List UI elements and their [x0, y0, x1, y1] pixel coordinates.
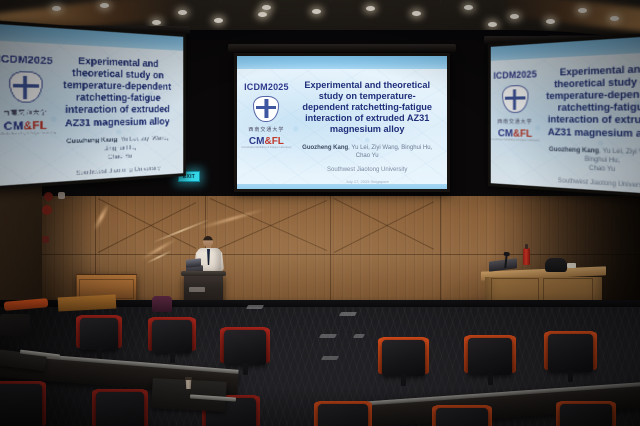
lecture-hall-photo: EXIT ICDM2025 西南交通大学 CM&FL Constitutive … [0, 0, 640, 426]
seat-pedestal [243, 363, 248, 375]
downlight [610, 16, 619, 21]
auditorium-seat[interactable] [382, 340, 425, 376]
coauthor-names-2: Chao Yu [356, 153, 379, 159]
auditorium-seat[interactable] [560, 404, 612, 426]
floor-marker [321, 356, 339, 360]
slide-title: Experimental and theoretical study on te… [296, 80, 439, 136]
seat-backrest [224, 330, 266, 365]
seat-pedestal [488, 373, 493, 385]
conference-tag: ICDM2025 [244, 82, 289, 92]
seat-backrest [152, 320, 192, 353]
screen-valance-center [228, 44, 456, 52]
university-crest-icon [253, 96, 279, 122]
downlight [366, 6, 375, 11]
seat-backrest [318, 404, 368, 426]
desk-door [543, 278, 593, 302]
university-name-chinese: 西南交通大学 [498, 118, 533, 125]
downlight [488, 22, 497, 27]
slide-logo-column: ICDM2025 西南交通大学 CM&FL Constitutive Model… [491, 58, 540, 193]
lab-logo-subtitle: Constitutive Modelling & Fatigue Laborat… [241, 147, 291, 150]
slide-logo-column: ICDM2025 西南交通大学 CM&FL Constitutive Model… [237, 69, 296, 184]
slide-authors: Guozheng Kang, Yu Lei, Ziyi Wang, Binghu… [540, 145, 640, 177]
slide-header-band [237, 56, 447, 69]
seat-pedestal [568, 370, 573, 382]
desk-paper [567, 263, 576, 268]
slide-body: ICDM2025 西南交通大学 CM&FL Constitutive Model… [237, 69, 447, 184]
wall-speaker-puck [42, 205, 52, 215]
side-chair[interactable] [152, 296, 172, 312]
screen-bezel: ICDM2025 西南交通大学 CM&FL Constitutive Model… [234, 53, 450, 192]
seat-backrest [436, 408, 488, 426]
auditorium-seat[interactable] [468, 338, 512, 375]
presenter-name: Guozheng Kang [66, 137, 117, 145]
slide-body: ICDM2025 西南交通大学 CM&FL Constitutive Model… [491, 51, 640, 196]
slide-title: Experimental and theoretical study on te… [56, 54, 177, 130]
downlight [178, 10, 187, 15]
downlight [546, 19, 555, 24]
slide-affiliation: Southwest Jiaotong University [558, 178, 640, 190]
presenter-name: Guozheng Kang [549, 147, 599, 155]
lab-logo: CM&FL Constitutive Modelling & Fatigue L… [491, 130, 540, 144]
slide-text-column: Experimental and theoretical study on te… [56, 44, 183, 186]
conference-tag: ICDM2025 [0, 53, 53, 67]
podium-logo [189, 287, 205, 292]
downlight [578, 8, 587, 13]
lab-logo: CM&FL Constitutive Modelling & Fatigue L… [0, 121, 56, 137]
fire-extinguisher-icon [523, 248, 530, 265]
lab-logo-subtitle: Constitutive Modelling & Fatigue Laborat… [491, 140, 540, 144]
slide-authors: Guozheng Kang, Yu Lei, Ziyi Wang, Binghu… [56, 134, 177, 165]
slide-text-column: Experimental and theoretical study on te… [540, 51, 640, 196]
slide-title: Experimental and theoretical study on te… [540, 62, 640, 141]
auditorium-seat[interactable] [80, 318, 118, 350]
center-projection-screen: ICDM2025 西南交通大学 CM&FL Constitutive Model… [234, 53, 450, 192]
coauthor-names-2: Chao Yu [108, 153, 132, 161]
slide-footer-band [237, 184, 447, 189]
presenter-name: Guozheng Kang [302, 145, 348, 151]
auditorium-seat[interactable] [548, 334, 593, 372]
seat-accent-orange [0, 314, 30, 336]
downlight [464, 5, 473, 10]
left-projection-screen: ICDM2025 西南交通大学 CM&FL Constitutive Model… [0, 20, 186, 190]
right-projection-screen: ICDM2025 西南交通大学 CM&FL Constitutive Model… [488, 31, 640, 200]
wall-speaker-puck [58, 192, 65, 199]
floor-marker [319, 334, 337, 338]
auditorium-seat[interactable] [436, 408, 488, 426]
downlight [412, 11, 421, 16]
conference-tag: ICDM2025 [493, 69, 537, 81]
wall-speaker-puck [44, 192, 53, 201]
presentation-slide: ICDM2025 西南交通大学 CM&FL Constitutive Model… [0, 24, 183, 186]
slide-body: ICDM2025 西南交通大学 CM&FL Constitutive Model… [0, 40, 183, 186]
downlight [510, 14, 519, 19]
downlight [52, 6, 61, 11]
seat-backrest [80, 318, 118, 350]
downlight [152, 20, 161, 25]
university-crest-icon [9, 71, 43, 103]
university-name-chinese: 西南交通大学 [248, 126, 284, 133]
presentation-slide: ICDM2025 西南交通大学 CM&FL Constitutive Model… [491, 34, 640, 195]
auditorium-seat[interactable] [224, 330, 266, 365]
floor-marker [246, 305, 264, 309]
slide-authors: Guozheng Kang, Yu Lei, Ziyi Wang, Binghu… [302, 144, 432, 160]
laptop-screen [186, 258, 201, 268]
lab-logo: CM&FL Constitutive Modelling & Fatigue L… [241, 137, 291, 150]
presentation-slide: ICDM2025 西南交通大学 CM&FL Constitutive Model… [237, 56, 447, 189]
seat-backrest [468, 338, 512, 375]
seat-backrest [382, 340, 425, 376]
slide-affiliation: Southwest Jiaotong University [327, 167, 407, 173]
downlight [258, 12, 267, 17]
slide-date-location: July 17, 2025 Singapore [346, 179, 389, 184]
floor-marker [339, 312, 357, 316]
desk-chair [545, 258, 567, 272]
university-crest-icon [502, 85, 528, 113]
seat-pedestal [401, 374, 406, 386]
seat-backrest [548, 334, 593, 372]
screen-bezel: ICDM2025 西南交通大学 CM&FL Constitutive Model… [488, 31, 640, 200]
auditorium-seat[interactable] [152, 320, 192, 353]
downlight [100, 3, 109, 8]
auditorium-seat[interactable] [96, 392, 144, 426]
slide-logo-column: ICDM2025 西南交通大学 CM&FL Constitutive Model… [0, 40, 56, 186]
downlight [262, 5, 271, 10]
lab-logo-subtitle: Constitutive Modelling & Fatigue Laborat… [0, 133, 56, 138]
podium-surface [181, 271, 226, 276]
university-name-chinese: 西南交通大学 [3, 108, 48, 116]
seat-backrest [560, 404, 612, 426]
screen-bezel: ICDM2025 西南交通大学 CM&FL Constitutive Model… [0, 20, 186, 190]
seat-backrest [96, 392, 144, 426]
auditorium-seat[interactable] [0, 384, 42, 426]
slide-affiliation: Southwest Jiaotong University [76, 165, 160, 177]
desk-door [491, 278, 539, 302]
coauthor-names: , Yu Lei, Ziyi Wang, Binghui Hu, [348, 145, 432, 151]
slide-text-column: Experimental and theoretical study on te… [296, 69, 447, 184]
seat-pedestal [170, 351, 175, 363]
seat-backrest [0, 384, 42, 426]
downlight [312, 9, 321, 14]
downlight [214, 18, 223, 23]
coauthor-names-2: Chao Yu [589, 165, 615, 173]
auditorium-seat[interactable] [318, 404, 368, 426]
wall-speaker-puck [42, 236, 49, 243]
